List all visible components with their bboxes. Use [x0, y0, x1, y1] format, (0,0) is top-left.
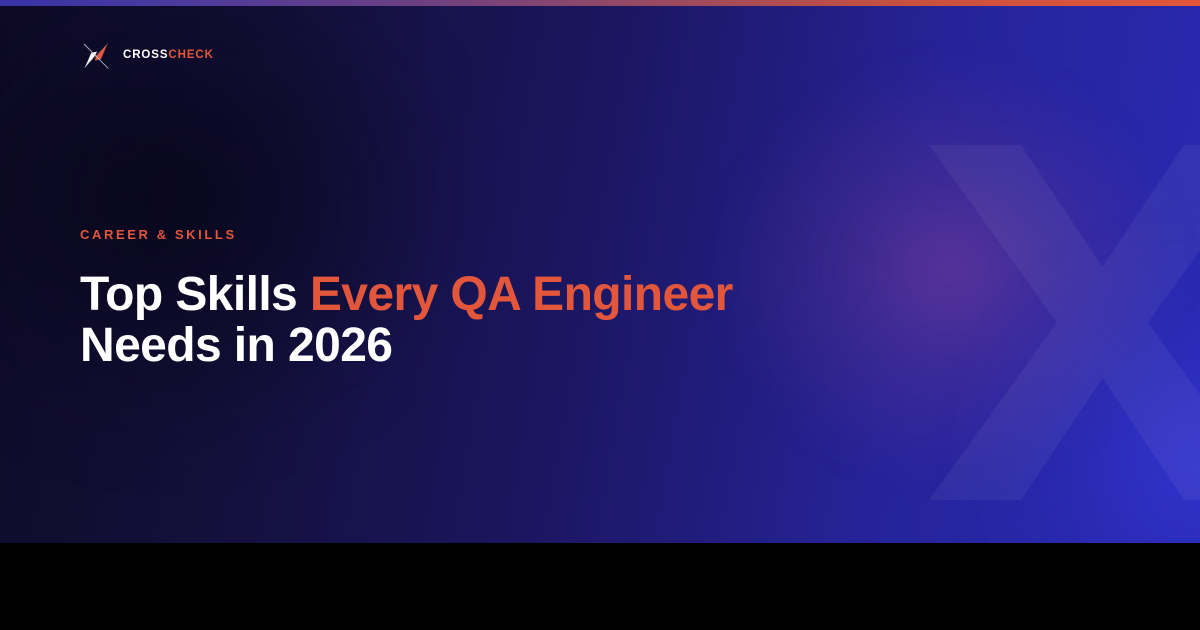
brand-wordmark-part-1: CROSS: [123, 49, 168, 61]
brand-wordmark-part-2: CHECK: [168, 49, 213, 61]
hero-content: CAREER & SKILLS Top Skills Every QA Engi…: [80, 228, 900, 371]
top-accent-bar: [0, 0, 1200, 6]
brand-logo[interactable]: CROSSCHECK: [78, 38, 214, 74]
headline-segment-1: Top Skills: [80, 268, 310, 321]
background-glow-blue: [960, 230, 1200, 543]
headline-segment-2: Needs in 2026: [80, 319, 392, 372]
category-eyebrow: CAREER & SKILLS: [80, 228, 900, 241]
brand-wordmark: CROSSCHECK: [123, 50, 214, 62]
hero-banner: CROSSCHECK CAREER & SKILLS Top Skills Ev…: [0, 0, 1200, 543]
page-title: Top Skills Every QA Engineer Needs in 20…: [80, 269, 870, 371]
page-root: CROSSCHECK CAREER & SKILLS Top Skills Ev…: [0, 0, 1200, 630]
large-x-watermark-icon: [925, 145, 1200, 500]
crosscheck-x-logo-icon: [78, 38, 114, 74]
headline-accent-segment: Every QA Engineer: [310, 268, 733, 321]
